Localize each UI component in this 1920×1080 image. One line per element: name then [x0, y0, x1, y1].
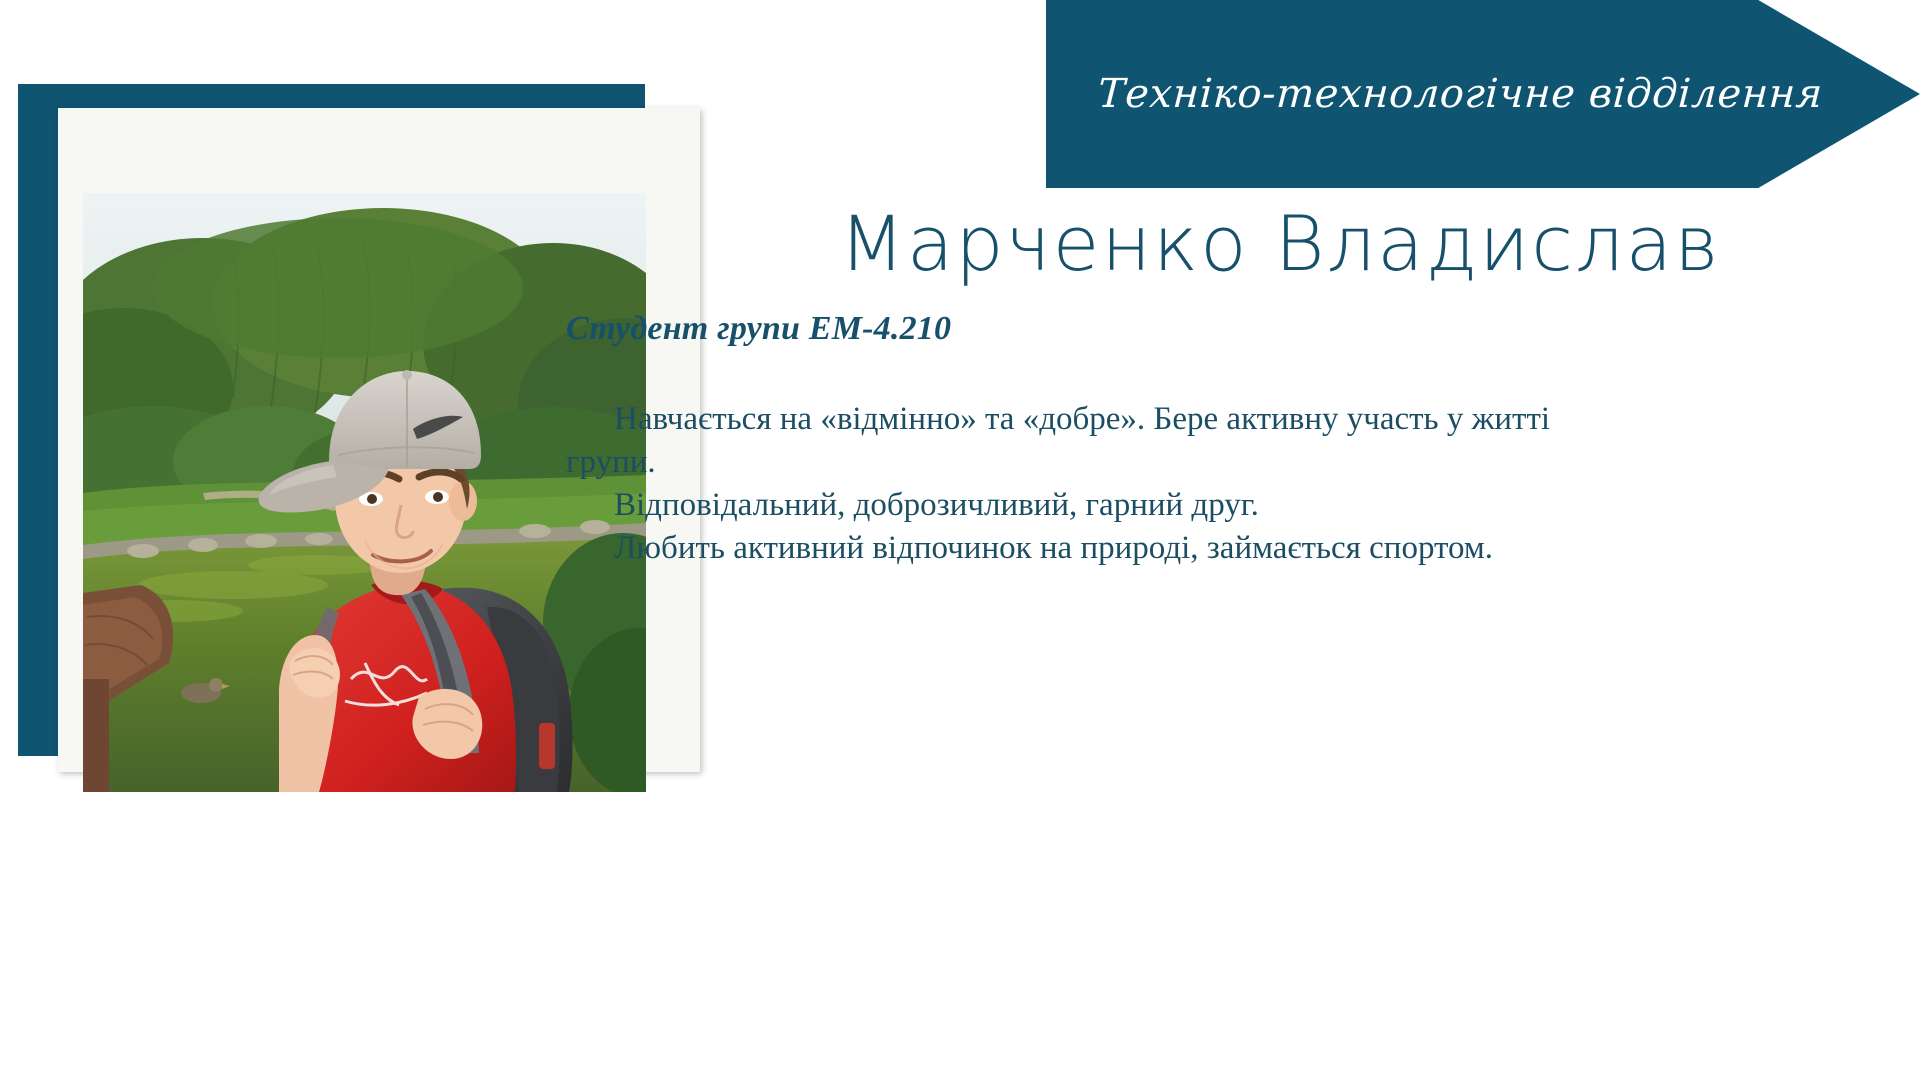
department-banner-label: Техніко-технологічне відділення — [1045, 71, 1824, 117]
photo-block — [18, 84, 648, 784]
student-photo-illustration — [83, 193, 646, 792]
description-paragraph: Любить активний відпочинок на природі, з… — [566, 527, 1576, 570]
description-paragraph: Відповідальний, доброзичливий, гарний др… — [566, 484, 1576, 527]
department-banner: Техніко-технологічне відділення — [1046, 0, 1920, 188]
page-title: Марченко Владислав — [700, 206, 1860, 282]
description-paragraph: Навчається на «відмінно» та «добре». Бер… — [566, 398, 1576, 484]
student-group-subtitle: Студент групи ЕМ-4.210 — [566, 310, 951, 348]
student-description: Навчається на «відмінно» та «добре». Бер… — [566, 398, 1576, 570]
student-photo — [83, 193, 646, 792]
slide-canvas: Техніко-технологічне відділення — [0, 0, 1920, 1080]
